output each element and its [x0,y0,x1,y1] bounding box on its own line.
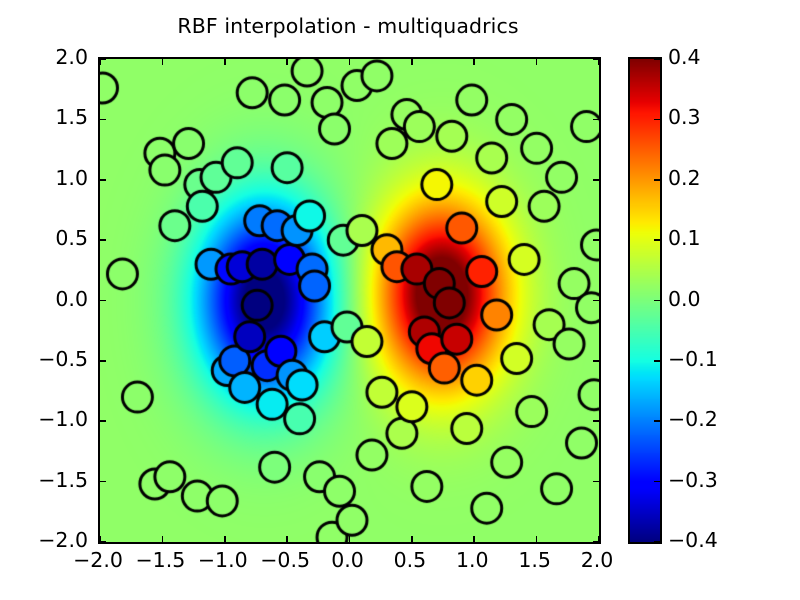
x-tick-label: 1.5 [518,548,551,572]
colorbar-tick-label: −0.4 [668,528,718,552]
y-tick-label: 0.5 [0,226,88,250]
colorbar-tick-label: 0.2 [668,166,701,190]
y-tick-mark [100,300,106,302]
y-tick-mark [593,360,599,362]
y-tick-mark [593,420,599,422]
plot-axes [98,57,601,544]
y-tick-mark [100,481,106,483]
colorbar-tick-label: −0.1 [668,347,718,371]
x-tick-mark [536,59,538,65]
x-tick-mark [411,536,413,542]
x-tick-label: 1.0 [456,548,489,572]
colorbar-tick-label: −0.3 [668,468,718,492]
y-tick-label: −0.5 [0,347,88,371]
y-tick-mark [100,360,106,362]
colorbar-tick-mark [654,360,660,362]
y-tick-mark [100,541,106,543]
y-tick-label: −1.0 [0,407,88,431]
x-tick-mark [473,59,475,65]
colorbar [628,57,662,544]
colorbar-tick-label: 0.3 [668,105,701,129]
y-tick-mark [593,239,599,241]
x-tick-mark [224,59,226,65]
x-tick-mark [99,59,101,65]
x-tick-label: −1.0 [198,548,248,572]
scatter-points-layer [100,59,599,542]
x-tick-mark [162,59,164,65]
y-tick-mark [593,300,599,302]
y-tick-label: −1.5 [0,468,88,492]
x-tick-mark [598,59,600,65]
colorbar-tick-mark [654,179,660,181]
y-tick-mark [100,58,106,60]
colorbar-tick-mark [654,420,660,422]
y-tick-mark [593,481,599,483]
y-tick-mark [100,420,106,422]
x-tick-mark [473,536,475,542]
x-tick-mark [536,536,538,542]
matplotlib-figure: RBF interpolation - multiquadrics −2.0−1… [0,0,800,600]
x-tick-mark [286,536,288,542]
colorbar-tick-mark [654,481,660,483]
chart-title: RBF interpolation - multiquadrics [0,14,696,38]
y-tick-label: 1.0 [0,166,88,190]
x-tick-label: 0.5 [394,548,427,572]
x-tick-mark [224,536,226,542]
x-tick-mark [349,59,351,65]
x-tick-mark [411,59,413,65]
x-tick-label: −0.5 [260,548,310,572]
y-tick-mark [593,119,599,121]
x-tick-mark [286,59,288,65]
colorbar-tick-mark [654,239,660,241]
y-tick-label: −2.0 [0,528,88,552]
colorbar-tick-mark [654,541,660,543]
colorbar-tick-label: −0.2 [668,407,718,431]
x-tick-mark [162,536,164,542]
y-tick-mark [593,58,599,60]
y-tick-label: 0.0 [0,287,88,311]
colorbar-tick-label: 0.1 [668,226,701,250]
colorbar-tick-label: 0.4 [668,45,701,69]
y-tick-mark [100,179,106,181]
x-tick-label: 2.0 [581,548,614,572]
y-tick-label: 1.5 [0,105,88,129]
y-tick-mark [100,119,106,121]
colorbar-tick-mark [654,300,660,302]
colorbar-tick-mark [654,58,660,60]
x-tick-label: 0.0 [331,548,364,572]
colorbar-tick-label: 0.0 [668,287,701,311]
y-tick-mark [100,239,106,241]
y-tick-mark [593,179,599,181]
y-tick-mark [593,541,599,543]
x-tick-mark [349,536,351,542]
x-tick-label: −1.5 [135,548,185,572]
colorbar-tick-mark [654,119,660,121]
y-tick-label: 2.0 [0,45,88,69]
